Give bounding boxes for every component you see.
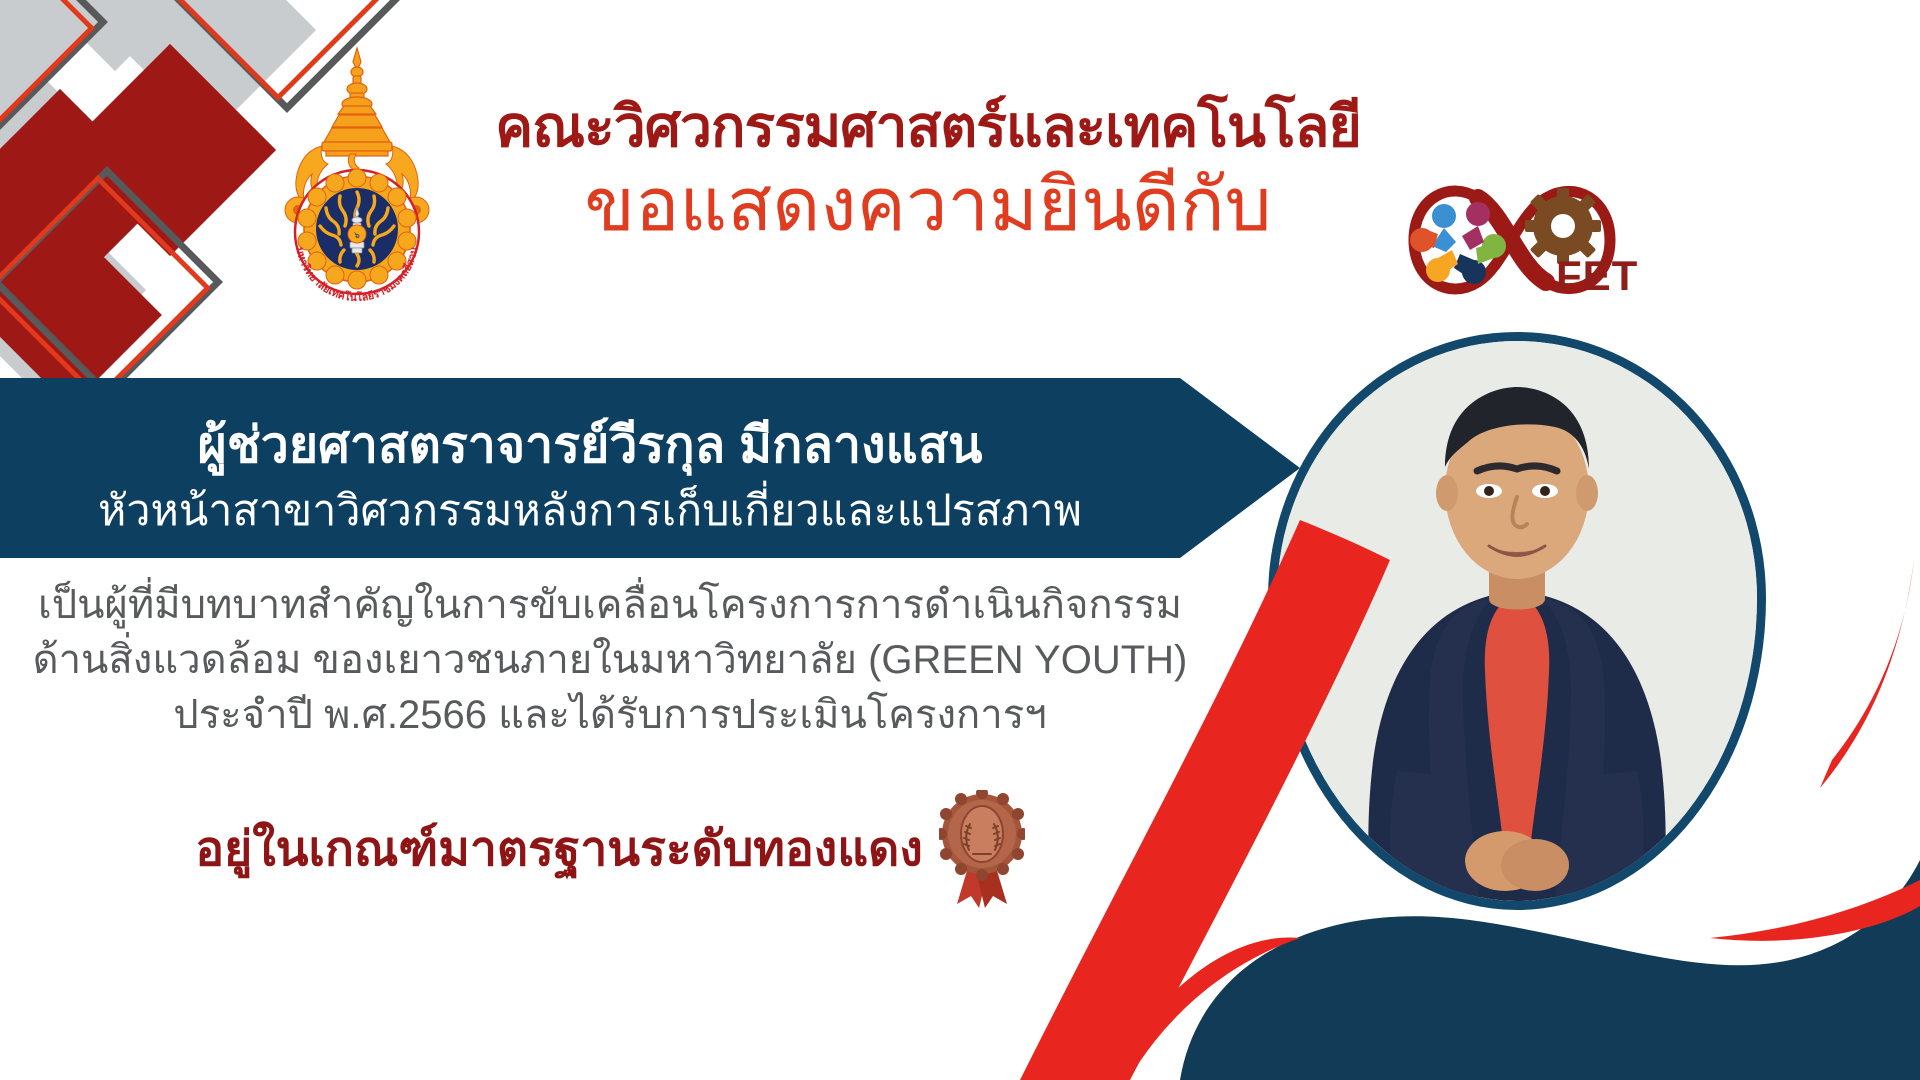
award-row: อยู่ในเกณฑ์มาตรฐานระดับทองแดง	[20, 790, 1200, 908]
person-name: ผู้ช่วยศาสตราจารย์วีรกุล มีกลางแสน	[0, 406, 1180, 485]
congratulations-title: ขอแสดงความยินดีกับ	[478, 164, 1378, 247]
award-text: อยู่ในเกณฑ์มาตรฐานระดับทองแดง	[195, 811, 923, 887]
name-banner: ผู้ช่วยศาสตราจารย์วีรกุล มีกลางแสน หัวหน…	[0, 378, 1300, 558]
university-emblem-icon: ๖ มหาวิทยาลัยเทคโนโลยีราชมงคลอีสาน	[262, 42, 452, 307]
faculty-title: คณะวิศวกรรมศาสตร์และเทคโนโลยี	[478, 98, 1378, 158]
portrait-photo	[1268, 332, 1766, 910]
description-line-3: ประจำปี พ.ศ.2566 และได้รับการประเมินโครง…	[20, 688, 1200, 743]
description-line-1: เป็นผู้ที่มีบทบาทสำคัญในการขับเคลื่อนโคร…	[20, 578, 1200, 633]
bronze-medal-icon	[939, 790, 1025, 908]
description-block: เป็นผู้ที่มีบทบาทสำคัญในการขับเคลื่อนโคร…	[20, 578, 1200, 744]
description-line-2: ด้านสิ่งแวดล้อม ของเยาวชนภายในมหาวิทยาลั…	[20, 633, 1200, 688]
person-position: หัวหน้าสาขาวิศวกรรมหลังการเก็บเกี่ยวและแ…	[0, 476, 1180, 544]
headline-block: คณะวิศวกรรมศาสตร์และเทคโนโลยี ขอแสดงความ…	[478, 98, 1378, 247]
fet-label: FET	[1556, 252, 1638, 300]
svg-text:๖: ๖	[354, 231, 360, 241]
congratulation-poster: ๖ มหาวิทยาลัยเทคโนโลยีราชมงคลอีสาน คณะวิ…	[0, 0, 1920, 1080]
